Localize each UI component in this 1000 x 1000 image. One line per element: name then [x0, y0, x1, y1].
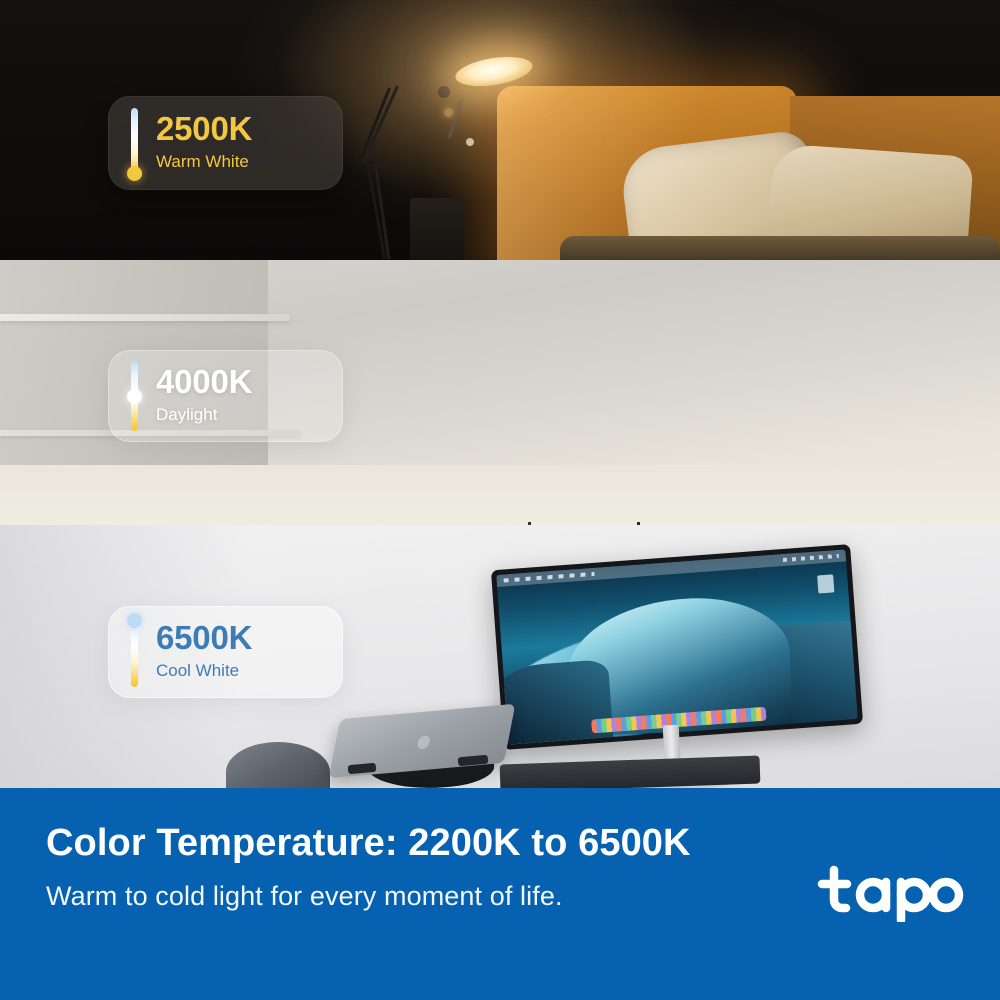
marketing-image: 2500K Warm White 4000K Daylight	[0, 0, 1000, 1000]
color-temperature-slider-warm[interactable]	[127, 108, 141, 178]
badge-label: Warm White	[156, 149, 252, 175]
footer-title: Color Temperature: 2200K to 6500K	[46, 822, 691, 865]
color-temperature-slider-daylight[interactable]	[127, 361, 141, 431]
menu-bar-items	[503, 571, 594, 582]
badge-label: Daylight	[156, 402, 252, 428]
floor	[0, 465, 1000, 525]
slider-knob[interactable]	[127, 389, 142, 404]
duvet	[560, 236, 1000, 260]
badge-kelvin-value: 6500K	[156, 620, 252, 656]
ultrawide-monitor	[491, 544, 863, 750]
badge-daylight: 4000K Daylight	[108, 350, 343, 442]
badge-kelvin-value: 2500K	[156, 111, 252, 147]
badge-kelvin-value: 4000K	[156, 364, 252, 400]
menu-bar-status-items	[783, 553, 839, 561]
color-temperature-slider-cool[interactable]	[127, 617, 141, 687]
monitor-screen	[496, 549, 858, 744]
badge-cool-white: 6500K Cool White	[108, 606, 343, 698]
badge-warm-white: 2500K Warm White	[108, 96, 343, 190]
wall-trim	[0, 314, 290, 321]
badge-text: 6500K Cool White	[156, 620, 252, 683]
badge-label: Cool White	[156, 658, 252, 684]
badge-text: 4000K Daylight	[156, 364, 252, 427]
slider-knob[interactable]	[127, 166, 142, 181]
desktop-icon	[817, 574, 834, 593]
panel-warm-white: 2500K Warm White	[0, 0, 1000, 260]
nightstand	[410, 198, 464, 260]
laptop-logo	[417, 736, 432, 750]
lamp-joint	[438, 86, 450, 98]
lamp-bulb-knob	[444, 108, 453, 117]
badge-text: 2500K Warm White	[156, 111, 252, 174]
lamp-tip	[466, 138, 474, 146]
slider-knob[interactable]	[127, 613, 142, 628]
footer-subtitle: Warm to cold light for every moment of l…	[46, 881, 563, 912]
tapo-logo	[816, 864, 964, 922]
monitor-bezel	[491, 544, 863, 750]
panel-daylight: 4000K Daylight	[0, 260, 1000, 525]
